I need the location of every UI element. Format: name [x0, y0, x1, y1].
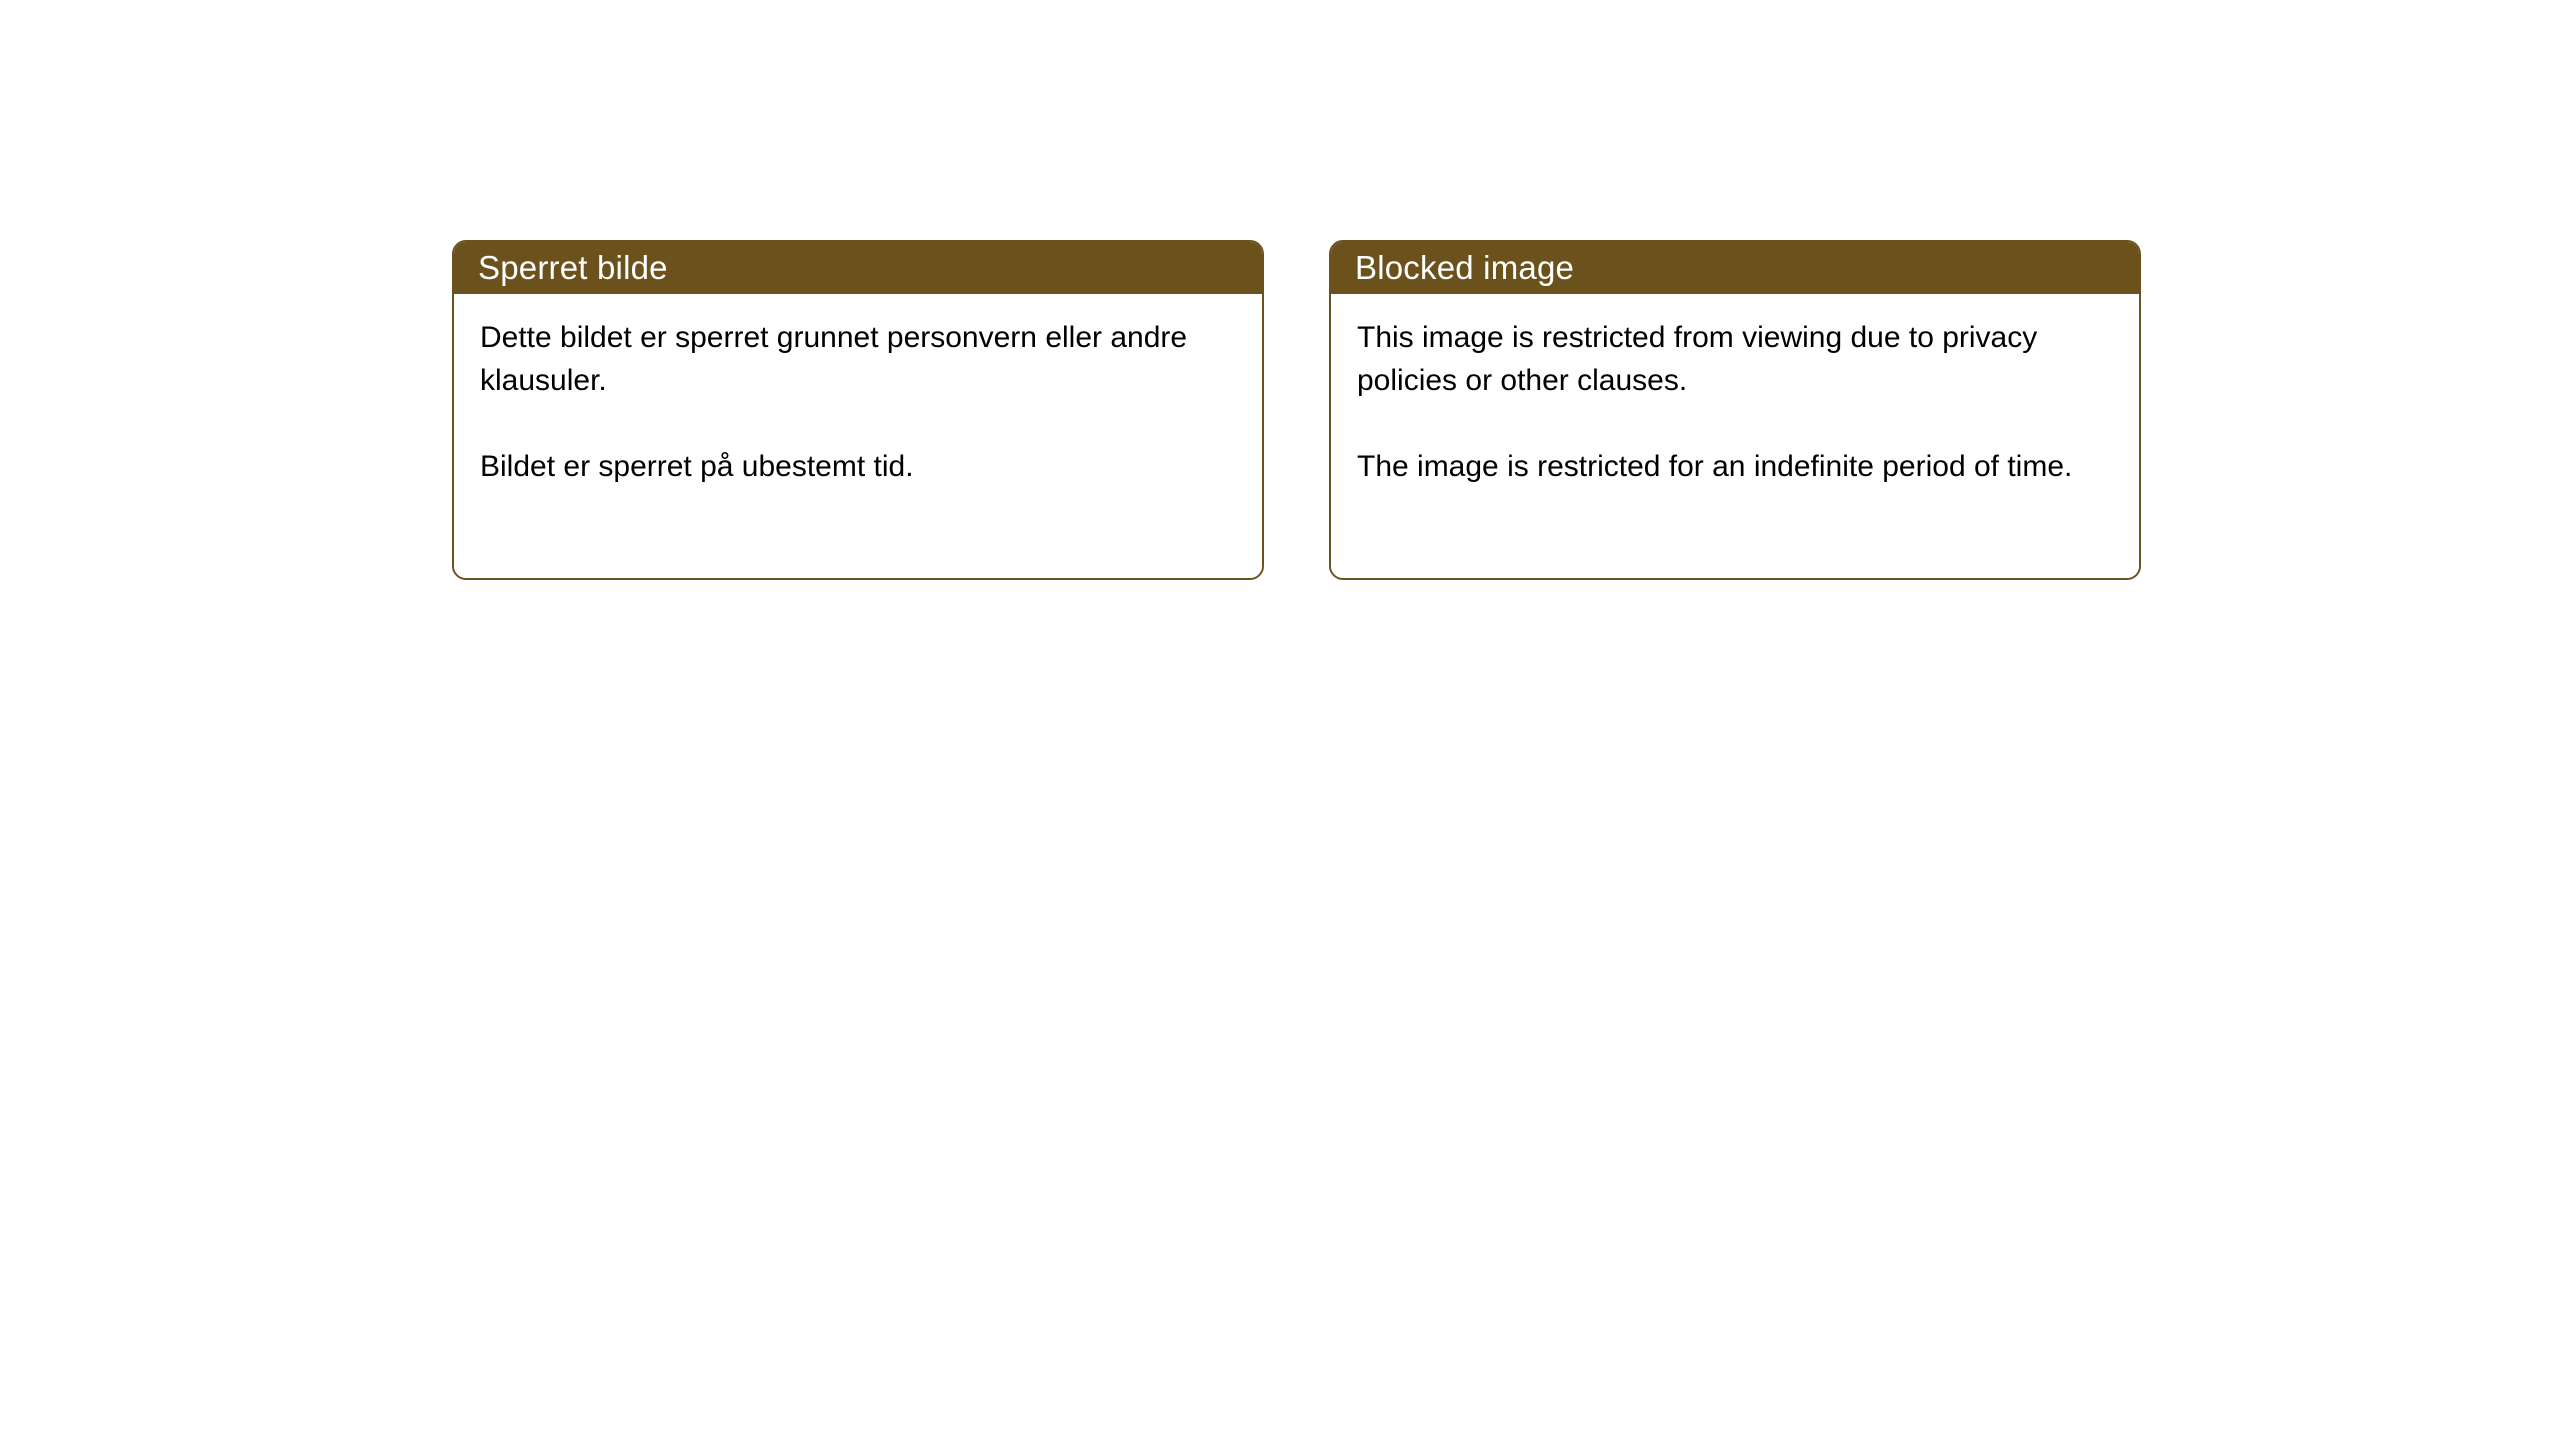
card-paragraph-two-english: The image is restricted for an indefinit… [1357, 445, 2077, 488]
blocked-image-card-norwegian: Sperret bilde Dette bildet er sperret gr… [452, 240, 1264, 580]
card-paragraph-two-norwegian: Bildet er sperret på ubestemt tid. [480, 445, 1200, 488]
card-title-english: Blocked image [1331, 242, 2139, 294]
blocked-image-card-english: Blocked image This image is restricted f… [1329, 240, 2141, 580]
card-paragraph-one-english: This image is restricted from viewing du… [1357, 316, 2077, 402]
card-body-english: This image is restricted from viewing du… [1331, 294, 2139, 578]
card-title-norwegian: Sperret bilde [454, 242, 1262, 294]
blocked-image-notice-container: Sperret bilde Dette bildet er sperret gr… [452, 240, 2141, 580]
card-paragraph-one-norwegian: Dette bildet er sperret grunnet personve… [480, 316, 1200, 402]
card-body-norwegian: Dette bildet er sperret grunnet personve… [454, 294, 1262, 578]
